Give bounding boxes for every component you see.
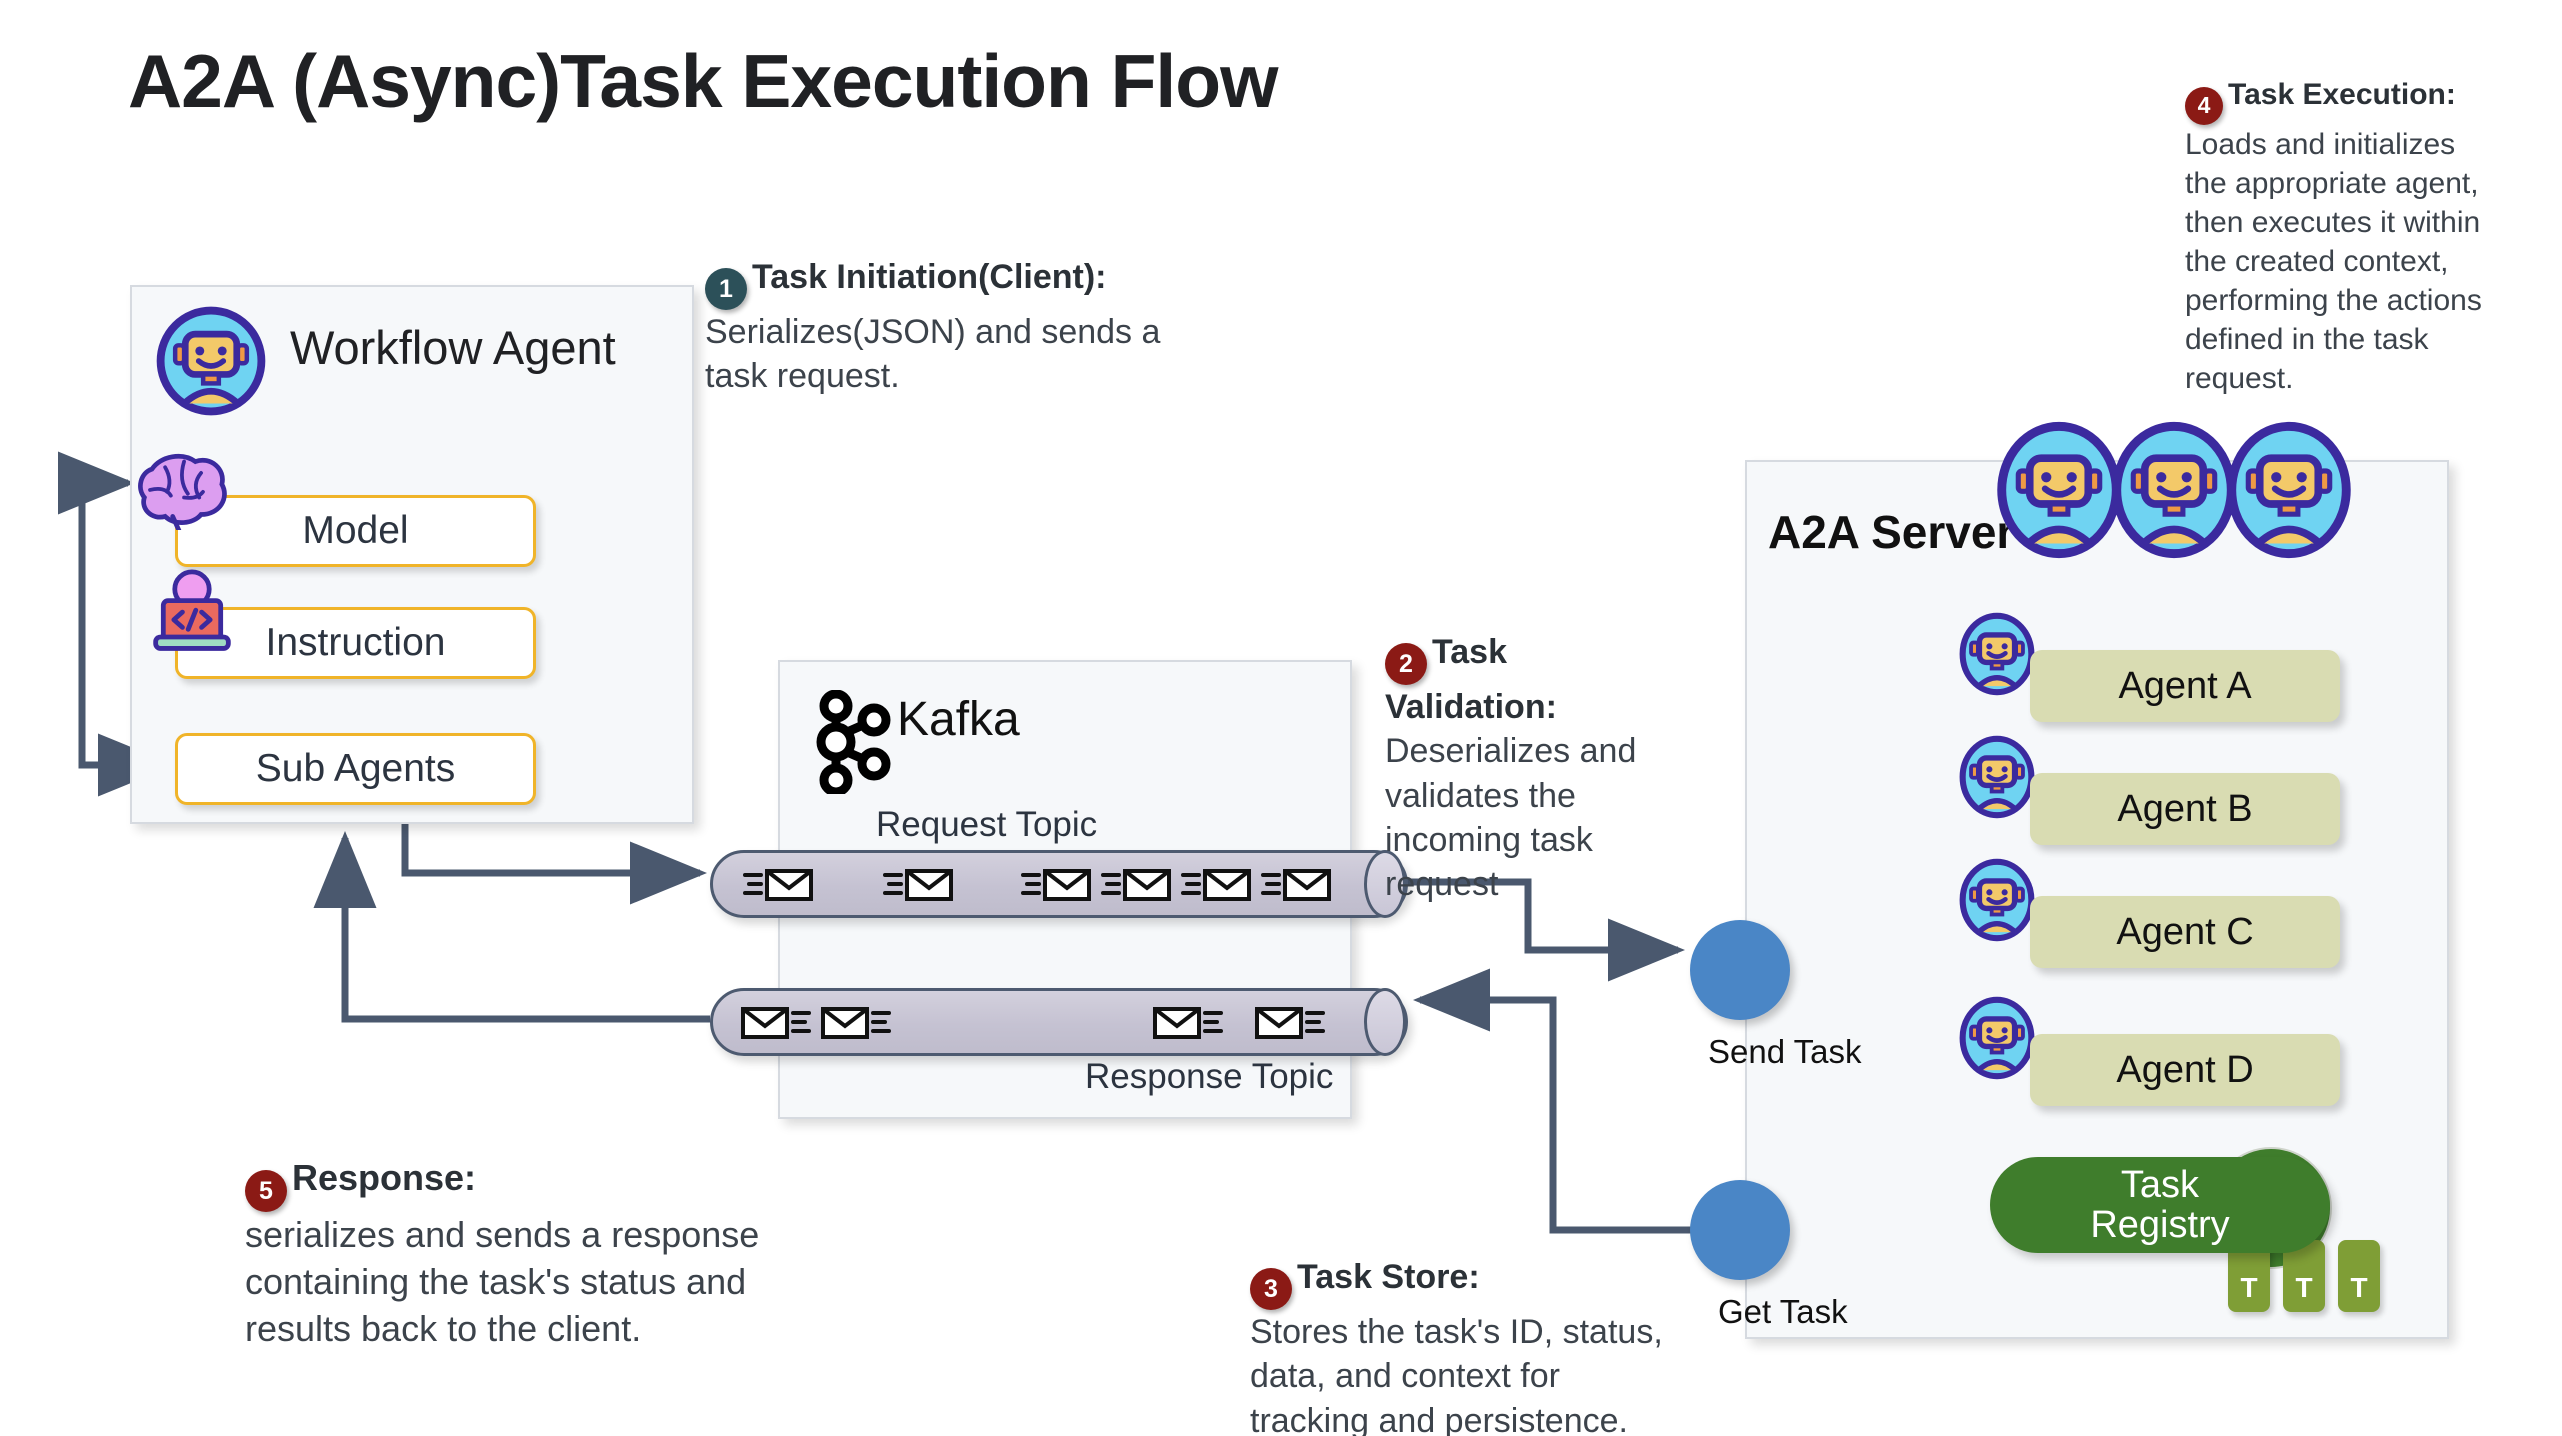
agent-label: Agent A bbox=[2118, 665, 2251, 708]
robot-avatar-icon bbox=[1955, 735, 2039, 819]
callout-badge: 4 bbox=[2185, 87, 2223, 125]
diagram-canvas: A2A (Async)Task Execution Flow Workflow … bbox=[0, 0, 2562, 1436]
callout-body: serializes and sends a response containi… bbox=[245, 1214, 759, 1349]
callout-heading: Task Execution: bbox=[2228, 78, 2456, 111]
get-task-node[interactable] bbox=[1690, 1180, 1790, 1280]
callout-2: 2Task Validation: Deserializes and valid… bbox=[1385, 630, 1675, 906]
callout-badge: 1 bbox=[705, 268, 747, 310]
code-laptop-icon bbox=[148, 568, 236, 660]
workflow-agent-title: Workflow Agent bbox=[290, 320, 616, 375]
kafka-title: Kafka bbox=[897, 692, 1020, 747]
send-task-label: Send Task bbox=[1708, 1033, 1862, 1071]
callout-3: 3Task Store: Stores the task's ID, statu… bbox=[1250, 1255, 1680, 1436]
workflow-item-label: Model bbox=[302, 509, 408, 553]
envelope-icon bbox=[819, 1004, 891, 1040]
callout-body: Stores the task's ID, status, data, and … bbox=[1250, 1313, 1663, 1436]
get-task-label: Get Task bbox=[1718, 1293, 1848, 1331]
workflow-item-sub-agents[interactable]: Sub Agents bbox=[175, 733, 536, 805]
envelope-icon bbox=[1021, 866, 1093, 902]
robot-avatar-icon bbox=[1995, 420, 2123, 560]
kafka-logo-icon bbox=[812, 690, 894, 794]
task-tab: T bbox=[2338, 1240, 2380, 1312]
response-topic-cylinder[interactable] bbox=[710, 988, 1408, 1056]
agent-pill-d[interactable]: Agent D bbox=[2030, 1034, 2340, 1106]
robot-avatar-icon bbox=[2225, 420, 2353, 560]
envelope-icon bbox=[1181, 866, 1253, 902]
callout-4: 4Task Execution: Loads and initializes t… bbox=[2185, 75, 2505, 398]
request-topic-label: Request Topic bbox=[876, 805, 1097, 845]
callout-heading: Task Store: bbox=[1297, 1258, 1480, 1296]
envelope-icon bbox=[743, 866, 815, 902]
agent-label: Agent C bbox=[2116, 911, 2253, 954]
request-topic-cylinder[interactable] bbox=[710, 850, 1408, 918]
request-message-row bbox=[713, 853, 1405, 915]
page-title: A2A (Async)Task Execution Flow bbox=[128, 38, 1277, 124]
robot-avatar-icon bbox=[1955, 612, 2039, 696]
callout-1: 1Task Initiation(Client): Serializes(JSO… bbox=[705, 255, 1175, 399]
callout-5: 5Response: serializes and sends a respon… bbox=[245, 1155, 845, 1353]
envelope-icon bbox=[1151, 1004, 1223, 1040]
callout-body: Loads and initializes the appropriate ag… bbox=[2185, 128, 2482, 395]
task-registry-line2: Registry bbox=[2090, 1205, 2229, 1245]
response-message-row bbox=[713, 991, 1405, 1053]
envelope-icon bbox=[1101, 866, 1173, 902]
robot-avatar-icon bbox=[2110, 420, 2238, 560]
agent-label: Agent D bbox=[2116, 1049, 2253, 1092]
task-tab-label: T bbox=[2295, 1272, 2312, 1304]
robot-avatar-icon bbox=[1955, 996, 2039, 1080]
callout-body: Serializes(JSON) and sends a task reques… bbox=[705, 313, 1160, 395]
response-topic-label: Response Topic bbox=[1085, 1057, 1333, 1097]
agent-pill-c[interactable]: Agent C bbox=[2030, 896, 2340, 968]
callout-heading: Response: bbox=[292, 1157, 476, 1198]
envelope-icon bbox=[1261, 866, 1333, 902]
send-task-node[interactable] bbox=[1690, 920, 1790, 1020]
task-registry[interactable]: Task Registry bbox=[1990, 1157, 2330, 1253]
callout-badge: 5 bbox=[245, 1170, 287, 1212]
envelope-icon bbox=[739, 1004, 811, 1040]
workflow-item-label: Sub Agents bbox=[256, 747, 456, 791]
agent-label: Agent B bbox=[2117, 788, 2252, 831]
envelope-icon bbox=[883, 866, 955, 902]
a2a-server-title: A2A Server bbox=[1768, 505, 2014, 559]
callout-body: Deserializes and validates the incoming … bbox=[1385, 732, 1636, 903]
robot-avatar-icon bbox=[155, 305, 267, 417]
callout-badge: 2 bbox=[1385, 643, 1427, 685]
task-tab-label: T bbox=[2240, 1272, 2257, 1304]
agent-pill-a[interactable]: Agent A bbox=[2030, 650, 2340, 722]
callout-heading: Task Initiation(Client): bbox=[752, 258, 1106, 296]
workflow-item-label: Instruction bbox=[266, 621, 446, 665]
task-tab-label: T bbox=[2350, 1272, 2367, 1304]
robot-avatar-icon bbox=[1955, 858, 2039, 942]
brain-icon bbox=[133, 448, 237, 530]
task-registry-line1: Task bbox=[2090, 1165, 2229, 1205]
callout-badge: 3 bbox=[1250, 1268, 1292, 1310]
agent-pill-b[interactable]: Agent B bbox=[2030, 773, 2340, 845]
envelope-icon bbox=[1253, 1004, 1325, 1040]
